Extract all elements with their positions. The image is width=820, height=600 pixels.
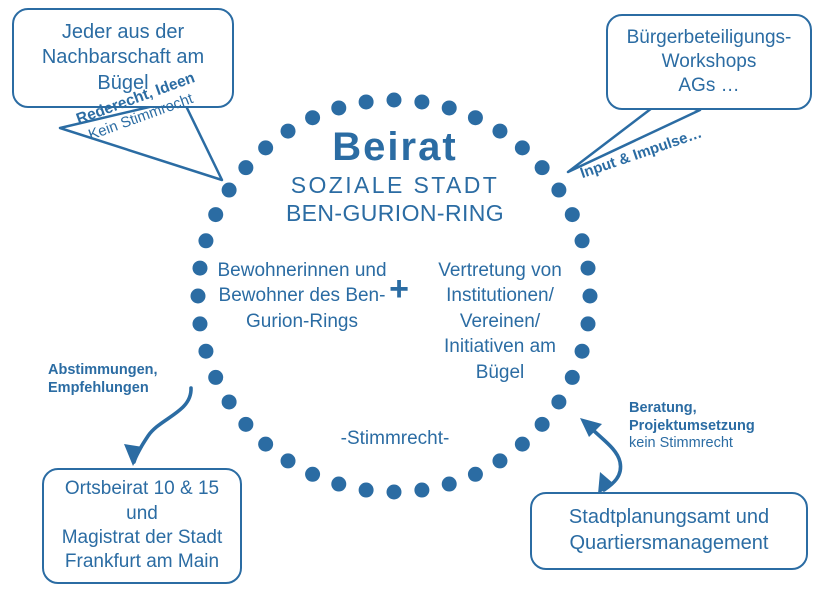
ring-dot — [551, 394, 566, 409]
ring-dot — [208, 207, 223, 222]
edge-label-abstimmungen-line-1: Abstimmungen, — [48, 362, 158, 380]
members-institutions-line-1: Vertretung — [438, 260, 526, 281]
ring-dot — [258, 437, 273, 452]
ring-dot — [468, 110, 483, 125]
box-stadtplanungsamt-line-1: Stadtplanungsamt und — [569, 505, 769, 531]
ring-dot — [414, 94, 429, 109]
center-subtitle-primary: SOZIALE STADT — [240, 172, 550, 199]
box-ortsbeirat-line-2: und — [126, 502, 158, 526]
ring-dot — [281, 453, 296, 468]
ring-dot — [387, 485, 402, 500]
members-institutions: Vertretung von Institutionen/ Vereinen/ … — [420, 258, 580, 385]
ring-dot — [565, 207, 580, 222]
members-residents-line-1: Bewohnerinnen — [217, 260, 349, 281]
bubble-participation-line-1: Bürgerbeteiligungs- — [627, 26, 792, 50]
edge-label-abstimmungen: Abstimmungen, Empfehlungen — [48, 362, 158, 397]
edge-label-beratung: Beratung, Projektumsetzung kein Stimmrec… — [629, 400, 755, 453]
bubble-participation-line-2: Workshops — [662, 50, 757, 74]
ring-dot — [305, 110, 320, 125]
center-title-group: Beirat SOZIALE STADT BEN-GURION-RING — [240, 126, 550, 227]
ring-dot — [442, 477, 457, 492]
ring-dot — [387, 93, 402, 108]
bubble-participation-line-3: AGs … — [678, 74, 739, 98]
members-institutions-line-5: Initiativen — [444, 336, 524, 357]
box-stadtplanungsamt-line-2: Quartiersmanagement — [570, 531, 769, 557]
center-subtitle-secondary: BEN-GURION-RING — [240, 200, 550, 227]
voting-rights-note: -Stimmrecht- — [300, 428, 490, 450]
ring-dot — [222, 183, 237, 198]
ring-dot — [535, 417, 550, 432]
page-title: Beirat — [240, 126, 550, 168]
ring-dot — [583, 289, 598, 304]
box-ortsbeirat-line-1: Ortsbeirat 10 & 15 — [65, 477, 219, 501]
box-ortsbeirat-line-3: Magistrat der Stadt — [62, 526, 223, 550]
ring-dot — [575, 233, 590, 248]
members-institutions-line-3: Institutionen/ — [446, 285, 554, 306]
edge-label-abstimmungen-line-2: Empfehlungen — [48, 380, 158, 398]
ring-dot — [238, 417, 253, 432]
ring-dot — [359, 94, 374, 109]
ring-dot — [305, 467, 320, 482]
ring-dot — [551, 183, 566, 198]
ring-dot — [492, 453, 507, 468]
edge-label-beratung-line-1: Beratung, — [629, 400, 755, 418]
ring-dot — [198, 233, 213, 248]
ring-dot — [331, 100, 346, 115]
members-residents: Bewohnerinnen und Bewohner des Ben-Gurio… — [212, 258, 392, 334]
members-institutions-line-4: Vereinen/ — [460, 311, 540, 332]
members-institutions-line-2: von — [531, 260, 562, 281]
arrow-abstimmungen — [134, 388, 191, 462]
ring-dot — [468, 467, 483, 482]
box-stadtplanungsamt[interactable]: Stadtplanungsamt und Quartiersmanagement — [530, 492, 808, 570]
box-ortsbeirat-line-4: Frankfurt am Main — [65, 550, 219, 574]
box-ortsbeirat[interactable]: Ortsbeirat 10 & 15 und Magistrat der Sta… — [42, 468, 242, 584]
ring-dot — [414, 483, 429, 498]
ring-dot — [208, 370, 223, 385]
ring-dot — [192, 316, 207, 331]
ring-dot — [581, 316, 596, 331]
arrow-abstimmungen-head — [124, 444, 143, 466]
edge-label-beratung-line-2: Projektumsetzung — [629, 418, 755, 436]
members-residents-line-3: des — [309, 285, 340, 306]
ring-dot — [192, 261, 207, 276]
ring-dot — [191, 289, 206, 304]
bubble-neighbourhood-line-1: Jeder aus der — [62, 20, 184, 46]
ring-dot — [359, 483, 374, 498]
bubble-participation[interactable]: Bürgerbeteiligungs- Workshops AGs … — [606, 14, 812, 110]
ring-dot — [581, 261, 596, 276]
edge-label-beratung-line-3: kein Stimmrecht — [629, 435, 755, 453]
diagram-canvas: Jeder aus der Nachbarschaft am Bügel Bür… — [0, 0, 820, 600]
ring-dot — [442, 100, 457, 115]
ring-dot — [331, 477, 346, 492]
ring-dot — [198, 344, 213, 359]
ring-dot — [222, 394, 237, 409]
bubble-neighbourhood-line-2: Nachbarschaft am — [42, 45, 204, 71]
plus-icon: + — [382, 272, 416, 306]
ring-dot — [515, 437, 530, 452]
